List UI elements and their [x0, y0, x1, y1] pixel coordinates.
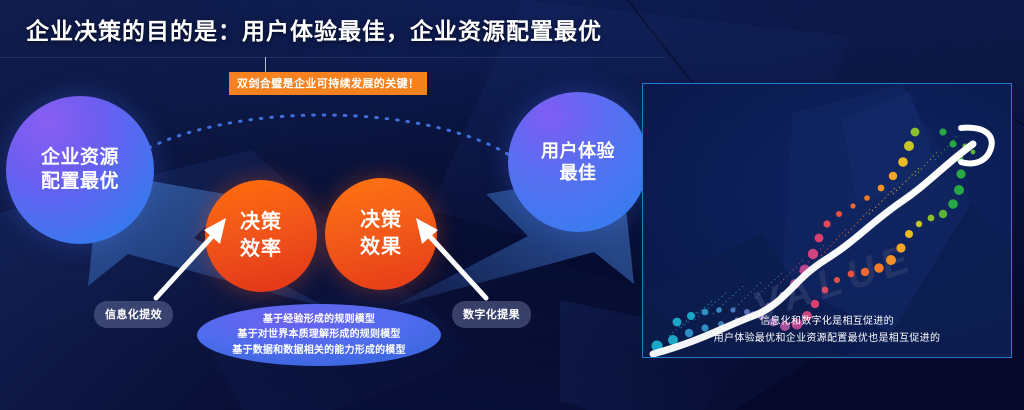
background-diagonal-line [1010, 117, 1024, 240]
circle-decision-efficiency[interactable]: 决策 效率 [205, 180, 317, 292]
divider-line [0, 57, 665, 58]
bubble-user-experience[interactable]: 用户体验 最佳 [508, 92, 648, 232]
circle-eff-line1: 决策 [240, 209, 282, 236]
pill-digitalization[interactable]: 数字化提果 [452, 301, 531, 328]
highlight-banner: 双剑合璧是企业可持续发展的关键！ [229, 72, 427, 95]
value-panel: VALUE [642, 83, 1012, 358]
page-title: 企业决策的目的是：用户体验最佳，企业资源配置最优 [26, 12, 602, 46]
panel-caption-line1: 信息化和数字化是相互促进的 [643, 313, 1011, 330]
model-line-3: 基于数据和数据相关的能力形成的模型 [232, 343, 405, 359]
bubble-left-line2: 配置最优 [41, 170, 119, 194]
pill-informatization[interactable]: 信息化提效 [94, 301, 173, 328]
bubble-enterprise-resource[interactable]: 企业资源 配置最优 [6, 96, 154, 244]
slide-canvas: 企业决策的目的是：用户体验最佳，企业资源配置最优 双剑合璧是企业可持续发展的关键… [0, 0, 1024, 410]
bubble-left-line1: 企业资源 [41, 146, 119, 170]
bubble-right-line1: 用户体验 [541, 140, 615, 163]
circle-decision-result[interactable]: 决策 效果 [325, 178, 437, 290]
model-ellipse[interactable]: 基于经验形成的规则模型 基于对世界本质理解形成的规则模型 基于数据和数据相关的能… [197, 304, 441, 366]
circle-eff-line2: 效率 [240, 236, 282, 263]
circle-res-line2: 效果 [360, 234, 402, 261]
circle-res-line1: 决策 [360, 207, 402, 234]
bubble-right-line2: 最佳 [560, 162, 597, 185]
model-line-2: 基于对世界本质理解形成的规则模型 [237, 327, 400, 343]
panel-caption-line2: 用户体验最优和企业资源配置最优也是相互促进的 [643, 330, 1011, 347]
model-line-1: 基于经验形成的规则模型 [263, 312, 375, 328]
panel-caption: 信息化和数字化是相互促进的 用户体验最优和企业资源配置最优也是相互促进的 [643, 313, 1011, 347]
